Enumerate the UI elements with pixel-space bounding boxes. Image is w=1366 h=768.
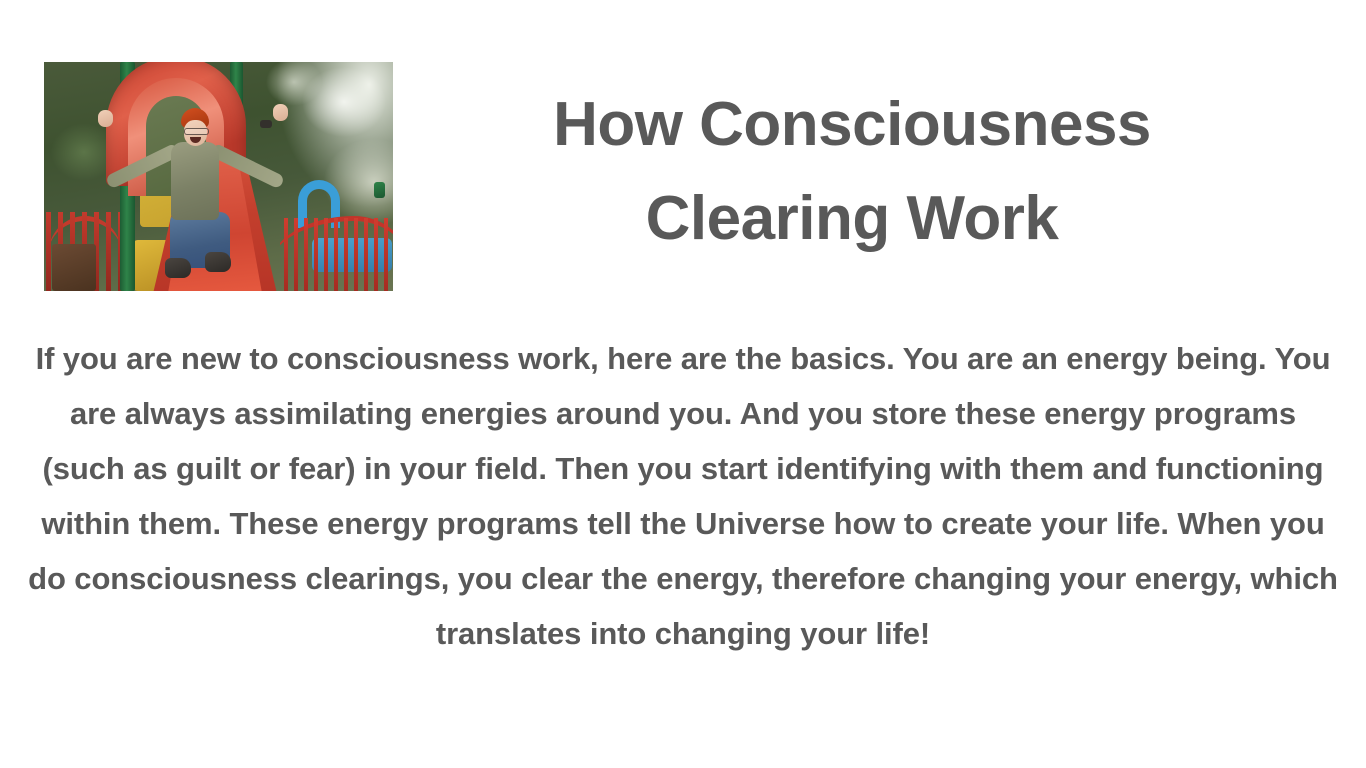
header-row: How Consciousness Clearing Work <box>0 0 1366 320</box>
title-line-2: Clearing Work <box>432 172 1272 266</box>
left-arm <box>105 143 181 190</box>
left-shoe <box>165 258 191 278</box>
right-shoe <box>205 252 231 272</box>
playground-photo <box>44 62 393 291</box>
left-hand <box>98 110 113 127</box>
body-paragraph-container: If you are new to consciousness work, he… <box>28 331 1338 661</box>
wristwatch <box>260 120 272 128</box>
slide-canvas: How Consciousness Clearing Work If you a… <box>0 0 1366 768</box>
body-paragraph: If you are new to consciousness work, he… <box>28 331 1338 661</box>
right-arm <box>209 143 285 190</box>
torso-jacket <box>171 142 219 220</box>
right-hand <box>273 104 288 121</box>
title-line-1: How Consciousness <box>432 78 1272 172</box>
woman-figure <box>44 62 393 291</box>
page-title: How Consciousness Clearing Work <box>432 78 1272 266</box>
photo-background-foliage <box>44 62 393 291</box>
glasses-icon <box>184 128 209 135</box>
